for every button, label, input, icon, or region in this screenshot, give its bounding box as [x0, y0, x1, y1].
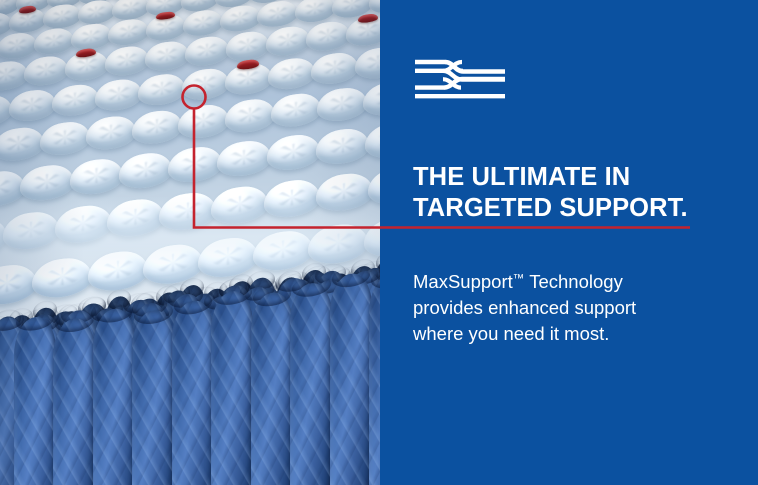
coil-cap — [9, 88, 56, 123]
content-panel: THE ULTIMATE IN TARGETED SUPPORT. MaxSup… — [380, 0, 758, 485]
coil-cap — [65, 50, 109, 83]
product-name: MaxSupport — [413, 271, 513, 292]
body-copy-line-3: where you need it most. — [413, 321, 703, 347]
coil-cylinder — [369, 272, 380, 485]
wave-lines-logo-icon — [415, 58, 505, 100]
coil-cap — [119, 150, 173, 190]
coil-cap — [317, 86, 367, 124]
coil-cap — [346, 15, 380, 48]
coil-cap — [178, 103, 228, 141]
coil-cap — [52, 82, 99, 117]
trademark-symbol: ™ — [513, 273, 525, 285]
coil-cap — [220, 4, 261, 34]
coil-cylinder — [251, 290, 293, 485]
coil-cap — [217, 138, 271, 178]
coil-cap — [268, 56, 315, 91]
coil-cap — [146, 13, 187, 43]
coil-cap — [185, 35, 229, 68]
coil-cap — [138, 72, 185, 107]
headline-line-2: TARGETED SUPPORT. — [413, 193, 733, 224]
body-copy-line-2: provides enhanced support — [413, 295, 703, 321]
coil-cap — [159, 190, 216, 233]
coil-cylinder — [53, 316, 95, 485]
coil-cap — [295, 0, 336, 25]
coil-cap — [306, 20, 350, 53]
coil-cap — [257, 0, 298, 29]
coil-cap — [225, 97, 275, 135]
coil-cylinder — [172, 298, 214, 485]
coil-cap — [34, 26, 75, 56]
product-suffix: Technology — [524, 271, 622, 292]
coil-cylinder — [132, 308, 174, 485]
coil-cap — [316, 171, 373, 214]
coil-cap — [0, 31, 37, 61]
coil-cylinder — [211, 289, 253, 485]
coil-cap — [24, 54, 68, 87]
coil-cap — [267, 132, 321, 172]
coil-cylinder — [330, 271, 372, 485]
coil-cap — [363, 80, 380, 118]
body-copy-line-1: MaxSupport™ Technology — [413, 269, 703, 295]
coil-cap — [132, 108, 182, 146]
coil-cap — [311, 51, 358, 86]
coil-cap — [107, 197, 164, 240]
coil-cap — [70, 156, 124, 196]
headline: THE ULTIMATE IN TARGETED SUPPORT. — [413, 162, 733, 224]
coil-cylinder — [93, 306, 135, 485]
coil-cap — [316, 126, 370, 166]
coil-cap — [368, 165, 380, 208]
coil-cylinder — [14, 314, 56, 485]
coil-cap — [365, 120, 380, 160]
body-copy: MaxSupport™ Technology provides enhanced… — [413, 269, 703, 348]
coil-cap — [264, 177, 321, 220]
coil-cap — [20, 162, 74, 202]
coil-cap — [226, 30, 270, 63]
coil-cap — [71, 22, 112, 52]
coil-cap — [86, 114, 136, 152]
coil-cap — [183, 8, 224, 38]
coil-cap — [225, 61, 272, 96]
coil-cap — [271, 91, 321, 129]
coil-cylinder — [290, 280, 332, 485]
headline-line-1: THE ULTIMATE IN — [413, 162, 733, 193]
mattress-coil-photo — [0, 0, 380, 485]
coil-cap — [266, 25, 310, 58]
coil-cap — [168, 144, 222, 184]
coil-cap — [145, 40, 189, 73]
coil-cap — [182, 67, 229, 102]
coil-cap — [95, 77, 142, 112]
coil-cap — [108, 17, 149, 47]
coil-cap — [0, 125, 44, 163]
promo-banner: THE ULTIMATE IN TARGETED SUPPORT. MaxSup… — [0, 0, 758, 485]
coil-cap — [40, 120, 90, 158]
coil-cap — [211, 184, 268, 227]
navy-pocket-coil-layer — [0, 238, 380, 485]
coil-cap — [105, 45, 149, 78]
coil-cap — [355, 45, 381, 80]
